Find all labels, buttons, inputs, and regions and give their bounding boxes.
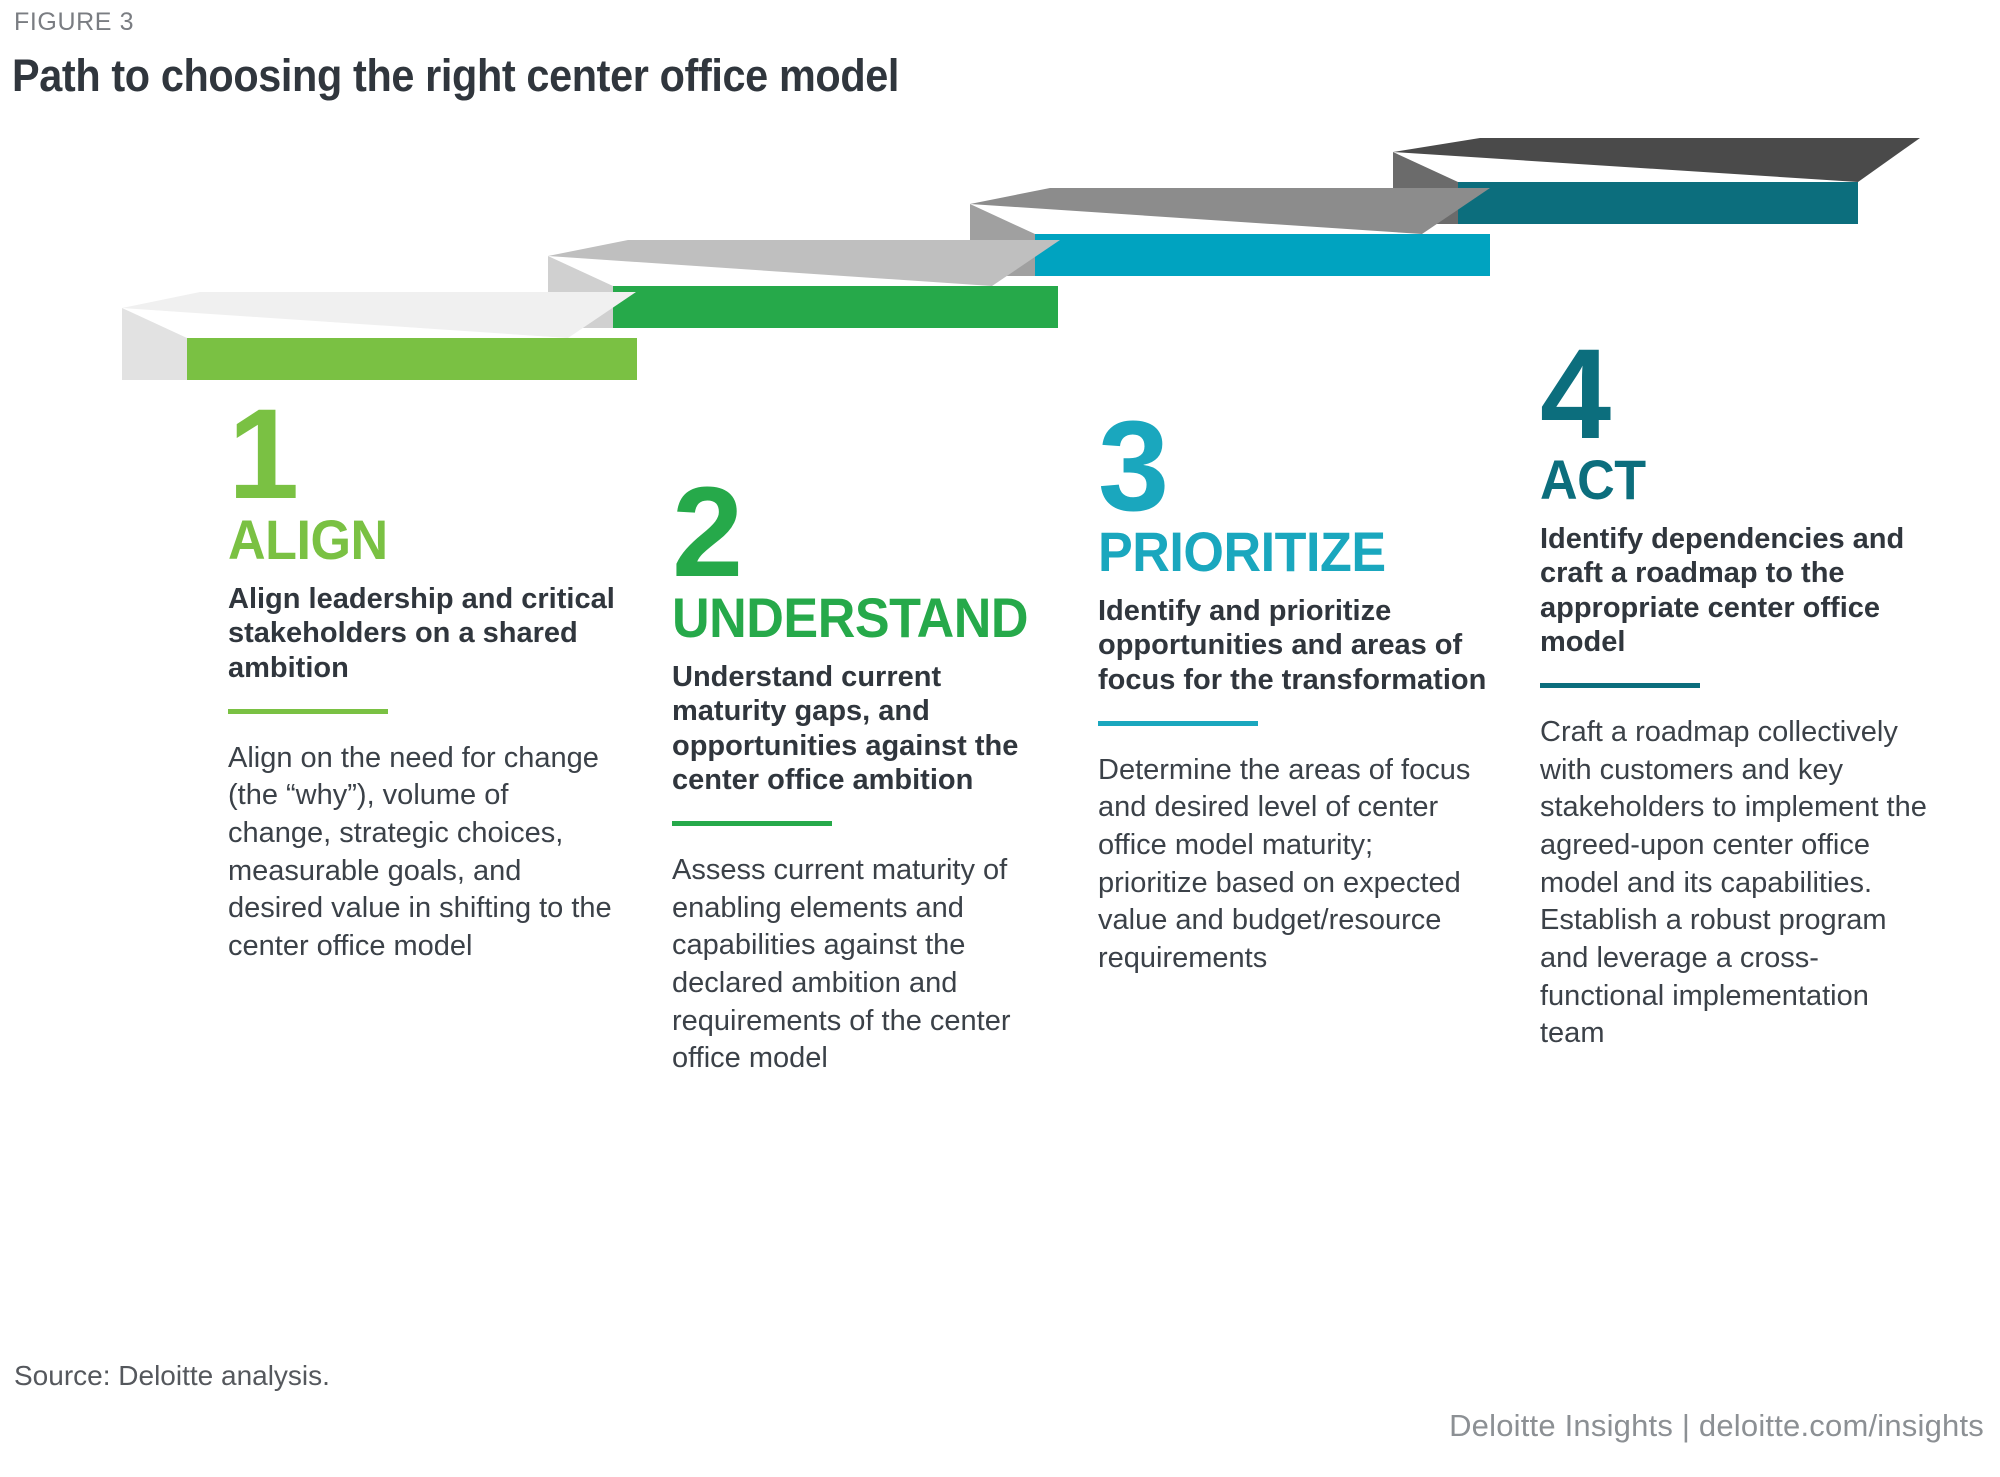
- step-3-front-face: [1035, 234, 1490, 276]
- step-rule-4: [1540, 683, 1700, 688]
- step-word-2: UNDERSTAND: [672, 590, 1035, 646]
- page-title: Path to choosing the right center office…: [12, 50, 899, 102]
- step-body-2: Assess current maturity of enabling elem…: [672, 852, 1062, 1078]
- step-2-front-face: [613, 286, 1058, 328]
- step-1-side-face: [122, 308, 187, 380]
- step-rule-3: [1098, 721, 1258, 726]
- step-number-4: 4: [1540, 340, 1930, 450]
- step-word-1: ALIGN: [228, 512, 591, 568]
- step-3-top-face: [970, 188, 1490, 234]
- step-lead-1: Align leadership and critical stakeholde…: [228, 582, 618, 685]
- step-body-1: Align on the need for change (the “why”)…: [228, 740, 618, 966]
- step-2-top-face: [548, 240, 1060, 286]
- step-column-3: 3 PRIORITIZE Identify and prioritize opp…: [1098, 412, 1488, 978]
- step-number-3: 3: [1098, 412, 1488, 522]
- step-column-4: 4 ACT Identify dependencies and craft a …: [1540, 340, 1930, 1053]
- figure-root: FIGURE 3 Path to choosing the right cent…: [0, 0, 2000, 1477]
- stair-step-3: [970, 188, 1490, 276]
- step-word-4: ACT: [1540, 452, 1903, 508]
- step-number-1: 1: [228, 400, 618, 510]
- step-body-4: Craft a roadmap collectively with custom…: [1540, 714, 1930, 1053]
- figure-label: FIGURE 3: [14, 8, 134, 37]
- step-4-top-face: [1393, 138, 1920, 182]
- step-lead-3: Identify and prioritize opportunities an…: [1098, 594, 1488, 697]
- step-rule-1: [228, 709, 388, 714]
- step-body-3: Determine the areas of focus and desired…: [1098, 752, 1488, 978]
- step-lead-2: Understand current maturity gaps, and op…: [672, 660, 1062, 797]
- step-rule-2: [672, 821, 832, 826]
- step-column-1: 1 ALIGN Align leadership and critical st…: [228, 400, 618, 966]
- source-note: Source: Deloitte analysis.: [14, 1360, 330, 1392]
- step-1-top-face: [122, 292, 636, 338]
- stair-step-1: [122, 292, 637, 380]
- step-lead-4: Identify dependencies and craft a roadma…: [1540, 522, 1930, 659]
- step-word-3: PRIORITIZE: [1098, 524, 1461, 580]
- step-column-2: 2 UNDERSTAND Understand current maturity…: [672, 478, 1062, 1078]
- stair-step-4: [1393, 138, 1920, 224]
- stair-step-2: [548, 240, 1060, 328]
- step-number-2: 2: [672, 478, 1062, 588]
- brand-footer: Deloitte Insights | deloitte.com/insight…: [1449, 1408, 1984, 1444]
- step-4-front-face: [1458, 182, 1858, 224]
- step-1-front-face: [187, 338, 637, 380]
